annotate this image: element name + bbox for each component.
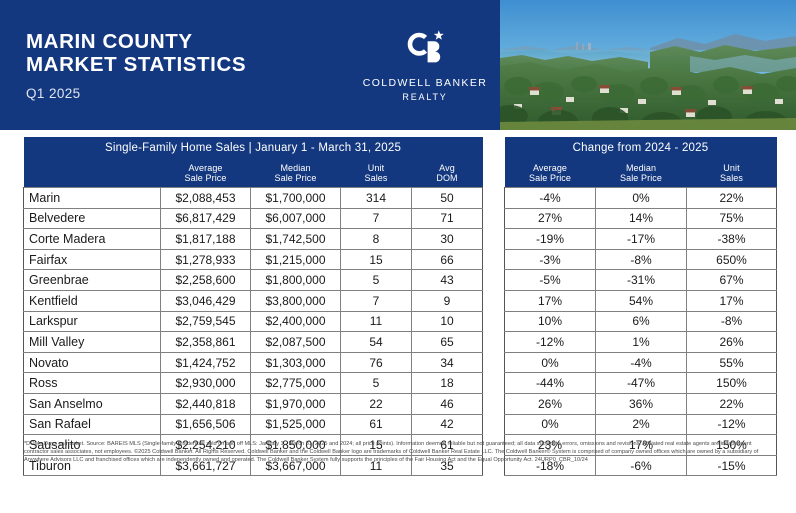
cell-median-sale-price-change: 36% [596,393,687,414]
cell-unit-sales-change: 67% [687,270,777,291]
cell-average-sale-price: $2,759,545 [161,311,251,332]
marin-county-landscape-image [500,0,796,130]
table-row: Greenbrae$2,258,600$1,800,000543 [24,270,483,291]
cell-avg-dom: 42 [412,414,483,435]
right-table-header-row: Average Sale Price Median Sale Price Uni… [505,159,777,188]
left-table-title: Single-Family Home Sales | January 1 - M… [24,137,483,159]
cell-median-sale-price-change: 0% [596,188,687,209]
cell-average-sale-price-change: 26% [505,393,596,414]
cell-average-sale-price: $1,817,188 [161,229,251,250]
right-col-median-sale-price-line1: Median [596,163,687,174]
cell-median-sale-price: $1,525,000 [251,414,341,435]
table-row: 17%54%17% [505,290,777,311]
table-row: Belvedere$6,817,429$6,007,000771 [24,208,483,229]
cell-median-sale-price: $2,400,000 [251,311,341,332]
cell-avg-dom: 71 [412,208,483,229]
cell-unit-sales: 11 [341,311,412,332]
page-title-line2: MARKET STATISTICS [26,53,246,76]
cell-average-sale-price-change: -3% [505,249,596,270]
left-col-city [24,159,161,188]
table-row: 0%-4%55% [505,352,777,373]
cell-unit-sales: 7 [341,290,412,311]
cell-city: Kentfield [24,290,161,311]
cell-city: San Rafael [24,414,161,435]
table-row: Kentfield$3,046,429$3,800,00079 [24,290,483,311]
left-table-header-row: Average Sale Price Median Sale Price Uni… [24,159,483,188]
cell-city: Novato [24,352,161,373]
left-table-title-row: Single-Family Home Sales | January 1 - M… [24,137,483,159]
left-col-median-sale-price-line2: Sale Price [251,173,341,184]
cell-avg-dom: 46 [412,393,483,414]
table-row: Marin$2,088,453$1,700,00031450 [24,188,483,209]
coldwell-banker-logo: COLDWELL BANKER REALTY [355,27,495,102]
cb-monogram-star-icon [355,27,495,73]
cell-median-sale-price-change: 54% [596,290,687,311]
cell-median-sale-price-change: -47% [596,373,687,394]
table-row: Mill Valley$2,358,861$2,087,5005465 [24,332,483,353]
cell-average-sale-price-change: -44% [505,373,596,394]
header-title-block: MARIN COUNTY MARKET STATISTICS Q1 2025 [26,30,246,101]
cell-median-sale-price: $1,800,000 [251,270,341,291]
left-col-average-sale-price-line1: Average [161,163,251,174]
cell-median-sale-price-change: -17% [596,229,687,250]
left-col-median-sale-price-line1: Median [251,163,341,174]
cell-unit-sales: 61 [341,414,412,435]
right-col-median-sale-price: Median Sale Price [596,159,687,188]
right-table-title-row: Change from 2024 - 2025 [505,137,777,159]
cell-city: Larkspur [24,311,161,332]
cell-city: Belvedere [24,208,161,229]
cell-unit-sales-change: 22% [687,188,777,209]
table-row: San Anselmo$2,440,818$1,970,0002246 [24,393,483,414]
single-family-home-sales-table: Single-Family Home Sales | January 1 - M… [23,137,483,476]
cell-average-sale-price-change: 17% [505,290,596,311]
cell-median-sale-price: $2,775,000 [251,373,341,394]
table-row: -3%-8%650% [505,249,777,270]
cell-avg-dom: 30 [412,229,483,250]
cell-average-sale-price: $6,817,429 [161,208,251,229]
cell-city: Fairfax [24,249,161,270]
page-header: MARIN COUNTY MARKET STATISTICS Q1 2025 C… [0,0,796,130]
cell-unit-sales-change: 55% [687,352,777,373]
cell-median-sale-price: $6,007,000 [251,208,341,229]
cell-unit-sales-change: -8% [687,311,777,332]
cell-unit-sales: 5 [341,270,412,291]
table-row: Fairfax$1,278,933$1,215,0001566 [24,249,483,270]
cell-average-sale-price-change: 0% [505,414,596,435]
cell-median-sale-price: $1,970,000 [251,393,341,414]
cell-median-sale-price-change: -8% [596,249,687,270]
table-row: -5%-31%67% [505,270,777,291]
left-col-avg-dom-line2: DOM [412,173,483,184]
cell-median-sale-price: $3,800,000 [251,290,341,311]
cell-median-sale-price-change: -31% [596,270,687,291]
cell-unit-sales: 314 [341,188,412,209]
page-subtitle-quarter: Q1 2025 [26,86,246,101]
cell-avg-dom: 66 [412,249,483,270]
cell-unit-sales-change: 22% [687,393,777,414]
cell-average-sale-price-change: -12% [505,332,596,353]
cell-unit-sales: 5 [341,373,412,394]
left-col-average-sale-price-line2: Sale Price [161,173,251,184]
logo-brand-sub: REALTY [355,92,495,102]
table-row: 27%14%75% [505,208,777,229]
cell-unit-sales-change: -12% [687,414,777,435]
cell-city: San Anselmo [24,393,161,414]
left-col-average-sale-price: Average Sale Price [161,159,251,188]
page-title-line1: MARIN COUNTY [26,30,246,53]
cell-unit-sales-change: 17% [687,290,777,311]
cell-unit-sales: 76 [341,352,412,373]
right-col-average-sale-price-line1: Average [505,163,596,174]
cell-average-sale-price: $2,088,453 [161,188,251,209]
right-col-unit-sales: Unit Sales [687,159,777,188]
cell-avg-dom: 34 [412,352,483,373]
cell-median-sale-price: $1,742,500 [251,229,341,250]
table-row: Ross$2,930,000$2,775,000518 [24,373,483,394]
cell-median-sale-price-change: 2% [596,414,687,435]
cell-median-sale-price: $1,215,000 [251,249,341,270]
left-col-avg-dom: Avg DOM [412,159,483,188]
table-row: Larkspur$2,759,545$2,400,0001110 [24,311,483,332]
cell-unit-sales-change: 75% [687,208,777,229]
table-row: Corte Madera$1,817,188$1,742,500830 [24,229,483,250]
cell-avg-dom: 65 [412,332,483,353]
cell-avg-dom: 18 [412,373,483,394]
table-row: San Rafael$1,656,506$1,525,0006142 [24,414,483,435]
table-row: 0%2%-12% [505,414,777,435]
left-col-unit-sales-line2: Sales [341,173,412,184]
cell-average-sale-price-change: -4% [505,188,596,209]
table-row: 26%36%22% [505,393,777,414]
right-col-unit-sales-line1: Unit [687,163,777,174]
cell-unit-sales-change: 150% [687,373,777,394]
table-row: -44%-47%150% [505,373,777,394]
cell-unit-sales-change: 26% [687,332,777,353]
cell-city: Mill Valley [24,332,161,353]
table-row: -19%-17%-38% [505,229,777,250]
right-col-average-sale-price: Average Sale Price [505,159,596,188]
cell-city: Ross [24,373,161,394]
cell-average-sale-price: $1,656,506 [161,414,251,435]
cell-avg-dom: 9 [412,290,483,311]
cell-unit-sales: 54 [341,332,412,353]
cell-median-sale-price-change: 1% [596,332,687,353]
table-row: -12%1%26% [505,332,777,353]
cell-average-sale-price-change: 0% [505,352,596,373]
table-row: Novato$1,424,752$1,303,0007634 [24,352,483,373]
right-col-unit-sales-line2: Sales [687,173,777,184]
cell-median-sale-price-change: 6% [596,311,687,332]
cell-average-sale-price: $2,440,818 [161,393,251,414]
cell-median-sale-price: $1,700,000 [251,188,341,209]
right-col-median-sale-price-line2: Sale Price [596,173,687,184]
header-hero-photo [500,0,796,130]
change-from-2024-2025-table: Change from 2024 - 2025 Average Sale Pri… [504,137,777,476]
cell-median-sale-price: $1,303,000 [251,352,341,373]
cell-median-sale-price: $2,087,500 [251,332,341,353]
cell-average-sale-price: $2,258,600 [161,270,251,291]
cell-unit-sales: 15 [341,249,412,270]
cell-average-sale-price-change: -5% [505,270,596,291]
logo-brand-name: COLDWELL BANKER [355,77,495,89]
cell-average-sale-price: $2,358,861 [161,332,251,353]
left-col-unit-sales-line1: Unit [341,163,412,174]
cell-unit-sales-change: 650% [687,249,777,270]
table-row: -4%0%22% [505,188,777,209]
cell-city: Marin [24,188,161,209]
right-table-title: Change from 2024 - 2025 [505,137,777,159]
cell-median-sale-price-change: 14% [596,208,687,229]
cell-avg-dom: 43 [412,270,483,291]
cell-median-sale-price-change: -4% [596,352,687,373]
cell-average-sale-price-change: 27% [505,208,596,229]
left-col-avg-dom-line1: Avg [412,163,483,174]
cell-avg-dom: 50 [412,188,483,209]
left-col-unit-sales: Unit Sales [341,159,412,188]
cell-unit-sales: 22 [341,393,412,414]
cell-avg-dom: 10 [412,311,483,332]
cell-average-sale-price-change: 10% [505,311,596,332]
table-row: 10%6%-8% [505,311,777,332]
cell-city: Greenbrae [24,270,161,291]
cell-city: Corte Madera [24,229,161,250]
cell-unit-sales: 8 [341,229,412,250]
left-col-median-sale-price: Median Sale Price [251,159,341,188]
cell-average-sale-price: $1,424,752 [161,352,251,373]
right-col-average-sale-price-line2: Sale Price [505,173,596,184]
legal-disclaimer: *DOM= Days on market. Source: BAREIS MLS… [24,440,774,464]
cell-average-sale-price: $1,278,933 [161,249,251,270]
cell-unit-sales-change: -38% [687,229,777,250]
cell-average-sale-price-change: -19% [505,229,596,250]
cell-average-sale-price: $2,930,000 [161,373,251,394]
cell-average-sale-price: $3,046,429 [161,290,251,311]
market-statistics-page: MARIN COUNTY MARKET STATISTICS Q1 2025 C… [0,0,796,513]
cell-unit-sales: 7 [341,208,412,229]
